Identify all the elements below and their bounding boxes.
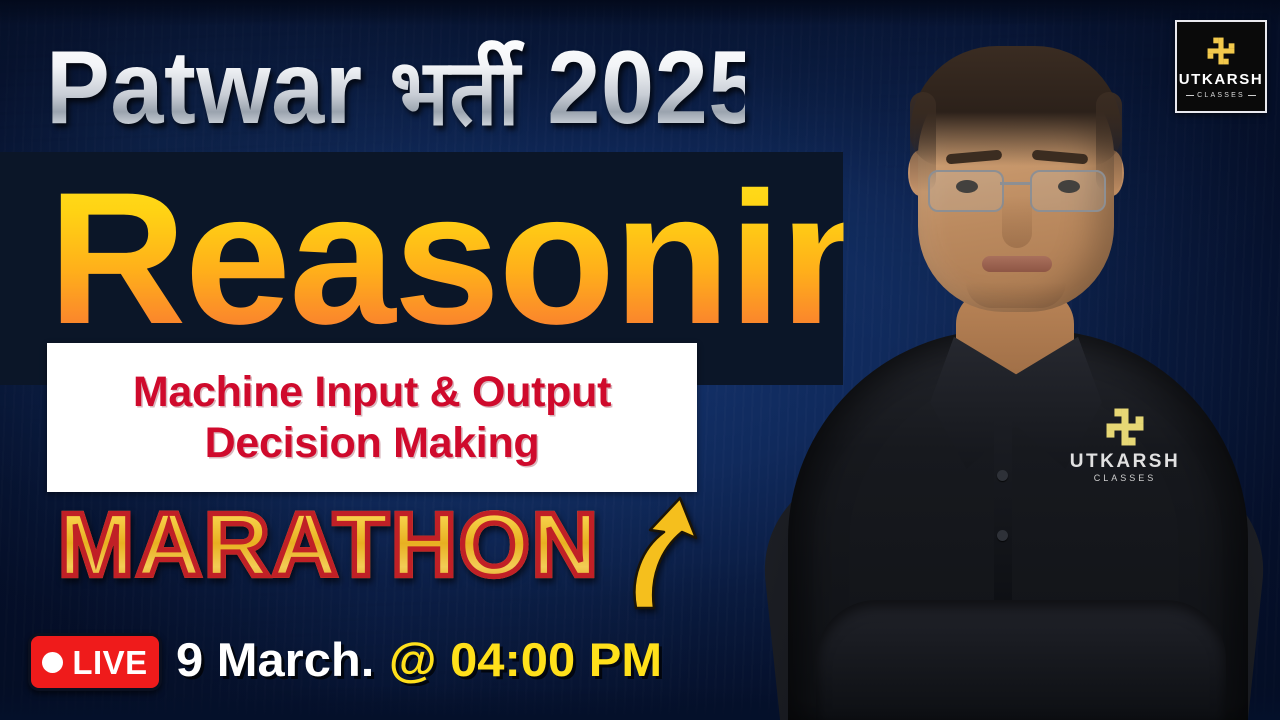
schedule-row: 9 March. @ 04:00 PM [176, 628, 662, 690]
title-exam-hi: भर्ती [390, 26, 521, 151]
shirt-button [997, 470, 1008, 481]
shirt-button [997, 530, 1008, 541]
session-type-wrap: MARATHON [58, 498, 569, 592]
schedule-time: @ 04:00 PM [389, 632, 662, 687]
page-title: Patwar भर्ती 2025 [46, 34, 745, 142]
brand-name: UTKARSH [1179, 72, 1264, 87]
title-year: 2025 [547, 29, 762, 148]
utkarsh-swastik-mark-icon [1205, 35, 1237, 67]
brand-subtitle: CLASSES [1197, 92, 1245, 99]
topic-line-1: Machine Input & Output [133, 368, 611, 416]
live-record-dot-icon [42, 652, 63, 673]
curved-up-right-arrow-icon [624, 492, 704, 610]
shirt-brand-logo: UTKARSH CLASSES [1060, 405, 1190, 497]
topic-line-2: Decision Making [205, 419, 540, 467]
live-label: LIVE [72, 646, 147, 679]
brand-rule-left [1186, 95, 1194, 96]
eyeglass-lens-right [1030, 170, 1106, 212]
presenter-hair [910, 46, 1122, 166]
shirt-brand-subtitle: CLASSES [1094, 474, 1157, 483]
live-badge[interactable]: LIVE [28, 633, 162, 691]
youtube-thumbnail: UTKARSH CLASSES Patwar भर्ती 2025 Reason… [0, 0, 1280, 720]
session-type-badge: MARATHON [58, 500, 600, 590]
utkarsh-swastik-mark-icon [1103, 405, 1147, 449]
shirt-brand-name: UTKARSH [1070, 452, 1180, 471]
subject-heading: Reasoning [48, 160, 844, 356]
schedule-date: 9 March. [176, 632, 374, 687]
presenter-shirt-placket [994, 420, 1012, 630]
presenter-folded-arms [816, 600, 1226, 720]
brand-logo: UTKARSH CLASSES [1175, 20, 1267, 113]
title-exam-en: Patwar [46, 29, 363, 148]
topic-box: Machine Input & Output Decision Making [47, 343, 697, 492]
brand-subtitle-row: CLASSES [1186, 92, 1256, 99]
brand-rule-right [1248, 95, 1256, 96]
